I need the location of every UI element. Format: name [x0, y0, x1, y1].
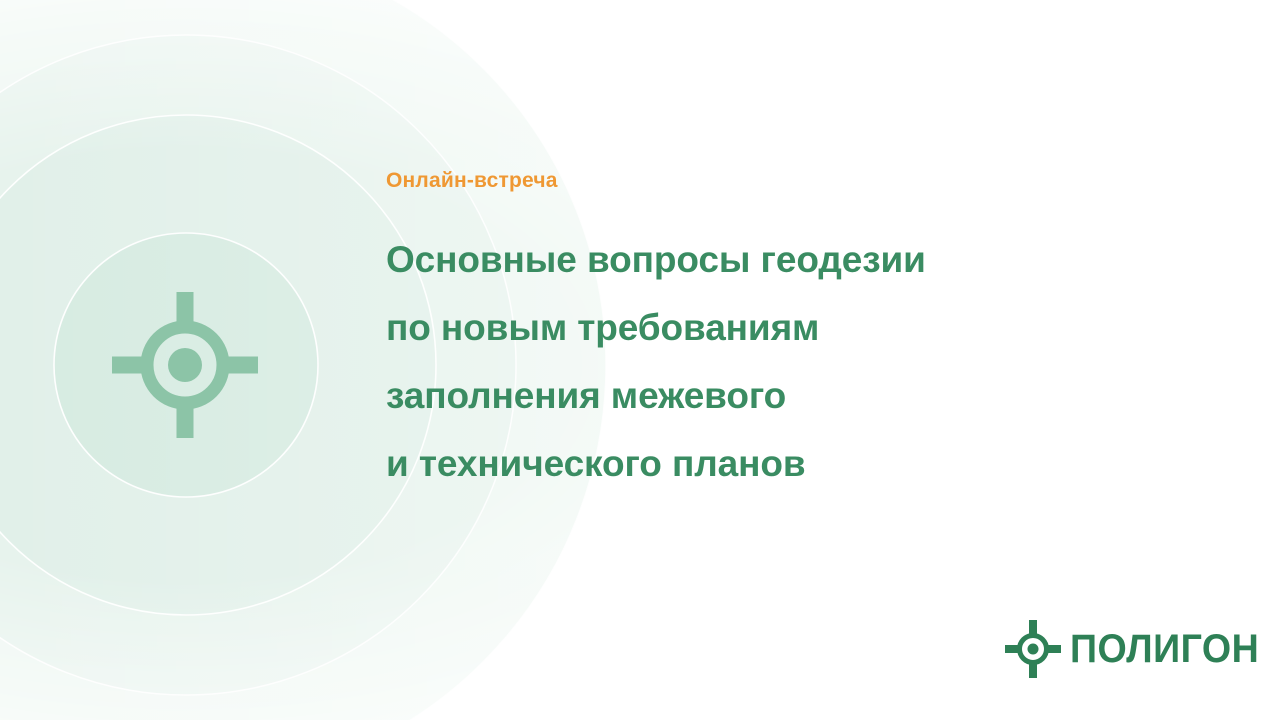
- slide-text-block: Онлайн-встреча Основные вопросы геодезии…: [386, 168, 1146, 498]
- survey-crosshair-icon: [110, 290, 260, 440]
- title-line-3: заполнения межевого: [386, 362, 1146, 430]
- title-line-1: Основные вопросы геодезии: [386, 226, 1146, 294]
- brand-logo: ПОЛИГОН: [1005, 620, 1271, 678]
- page-title: Основные вопросы геодезии по новым требо…: [386, 226, 1146, 498]
- title-line-2: по новым требованиям: [386, 294, 1146, 362]
- title-line-4: и техническо­го планов: [386, 430, 1146, 498]
- eyebrow-label: Онлайн-встреча: [386, 168, 1146, 193]
- presentation-slide: Онлайн-встреча Основные вопросы геодезии…: [0, 0, 1280, 720]
- logo-wordmark: ПОЛИГОН: [1070, 629, 1259, 669]
- logo-survey-crosshair-icon: [1005, 620, 1061, 678]
